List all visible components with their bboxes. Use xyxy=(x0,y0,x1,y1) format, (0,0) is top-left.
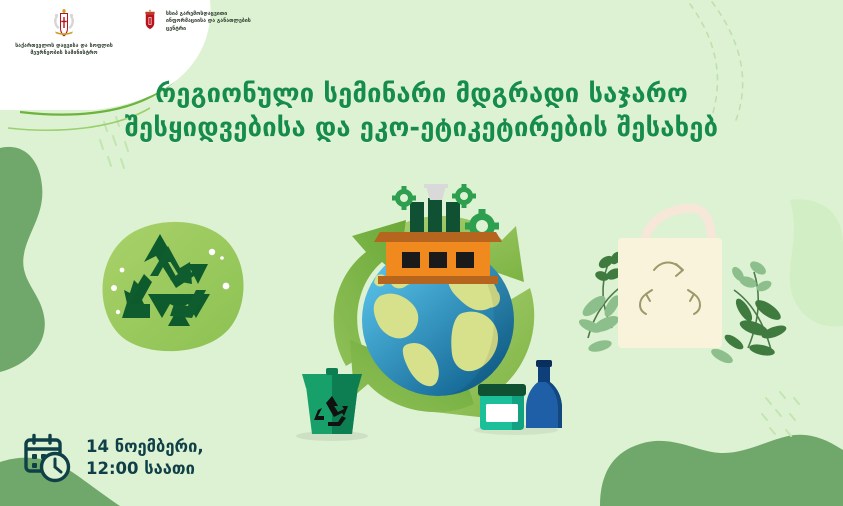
tote-body xyxy=(618,238,722,348)
bin-lid-shade xyxy=(332,374,362,388)
factory xyxy=(374,184,502,284)
georgia-coat-of-arms-icon xyxy=(51,8,77,40)
event-date: 14 ნოემბერი, 12:00 საათი xyxy=(22,432,204,484)
factory-chimney-2 xyxy=(428,198,442,232)
jar xyxy=(478,384,526,430)
event-date-text: 14 ნოემბერი, 12:00 საათი xyxy=(86,436,204,480)
georgia-coat-of-arms-small-icon xyxy=(140,8,160,34)
recycling-bin xyxy=(296,368,368,441)
poster-canvas: საქართველოს დაცვისა და სოფლის მეურნეობის… xyxy=(0,0,843,506)
title-line-2: შესყიდვებისა და ეკო-ეტიკეტირების შესახებ xyxy=(70,112,773,146)
calendar-clock-icon xyxy=(22,432,74,484)
factory-chimney-3 xyxy=(446,202,460,232)
factory-vent xyxy=(426,186,446,200)
globe-recycling-illustration xyxy=(288,178,588,450)
factory-base xyxy=(378,276,498,284)
poster-title: რეგიონული სემინარი მდგრადი საჯარო შესყიდ… xyxy=(0,78,843,145)
jar-label xyxy=(486,404,518,422)
logo-eiec: სსიპ გარემოსდაცვითი ინფორმაციისა და განა… xyxy=(140,8,262,34)
recycling-symbol-illustration xyxy=(88,212,263,367)
jar-lid xyxy=(478,384,526,396)
logo-ministry-text: საქართველოს დაცვისა და სოფლის მეურნეობის… xyxy=(10,43,118,58)
logo-row: საქართველოს დაცვისა და სოფლის მეურნეობის… xyxy=(10,8,262,58)
factory-chimney-1 xyxy=(410,202,424,232)
glass-bottle xyxy=(526,360,562,428)
eco-tote-bag-illustration xyxy=(572,198,792,383)
factory-windows xyxy=(402,252,474,268)
logo-eiec-text: სსიპ გარემოსდაცვითი ინფორმაციისა და განა… xyxy=(166,11,262,33)
factory-roof xyxy=(374,232,502,242)
title-line-1: რეგიონული სემინარი მდგრადი საჯარო xyxy=(155,79,688,109)
logo-ministry: საქართველოს დაცვისა და სოფლის მეურნეობის… xyxy=(10,8,118,58)
